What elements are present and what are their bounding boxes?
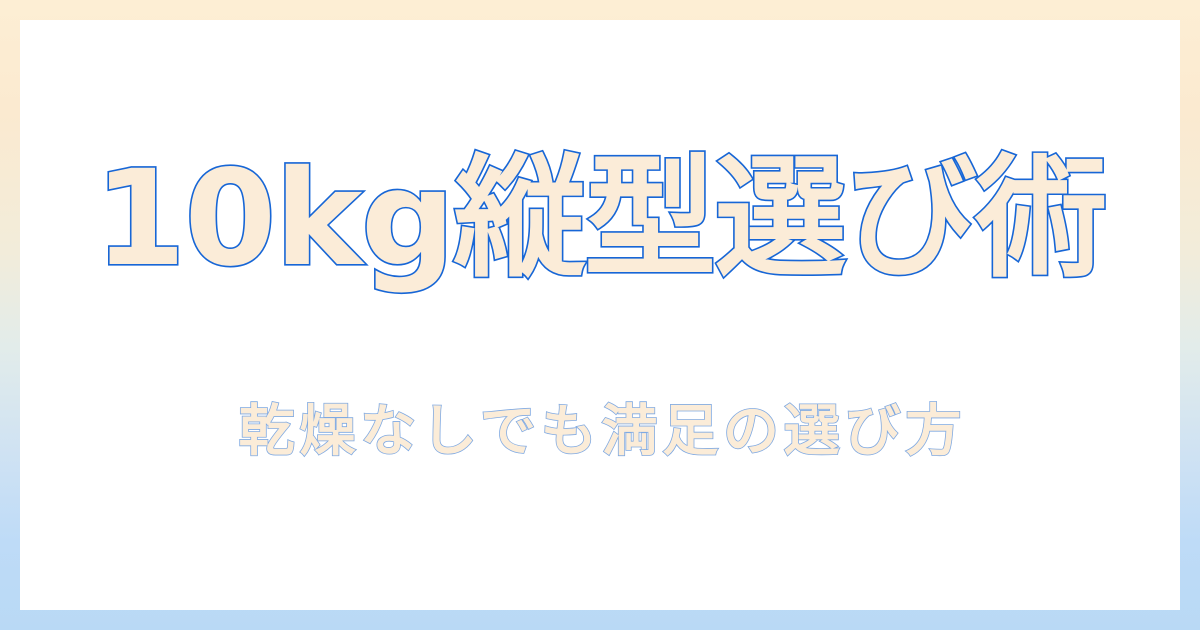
subtitle-container: 乾燥なしでも満足の選び方 (20, 398, 1180, 465)
page-subtitle: 乾燥なしでも満足の選び方 (234, 398, 966, 465)
white-card-panel: 10kg縦型選び術 乾燥なしでも満足の選び方 (20, 20, 1180, 610)
banner-eyecatch: 10kg縦型選び術 乾燥なしでも満足の選び方 (0, 0, 1200, 630)
title-container: 10kg縦型選び術 (20, 148, 1180, 291)
card-content: 10kg縦型選び術 乾燥なしでも満足の選び方 (20, 20, 1180, 610)
page-title: 10kg縦型選び術 (94, 148, 1106, 291)
